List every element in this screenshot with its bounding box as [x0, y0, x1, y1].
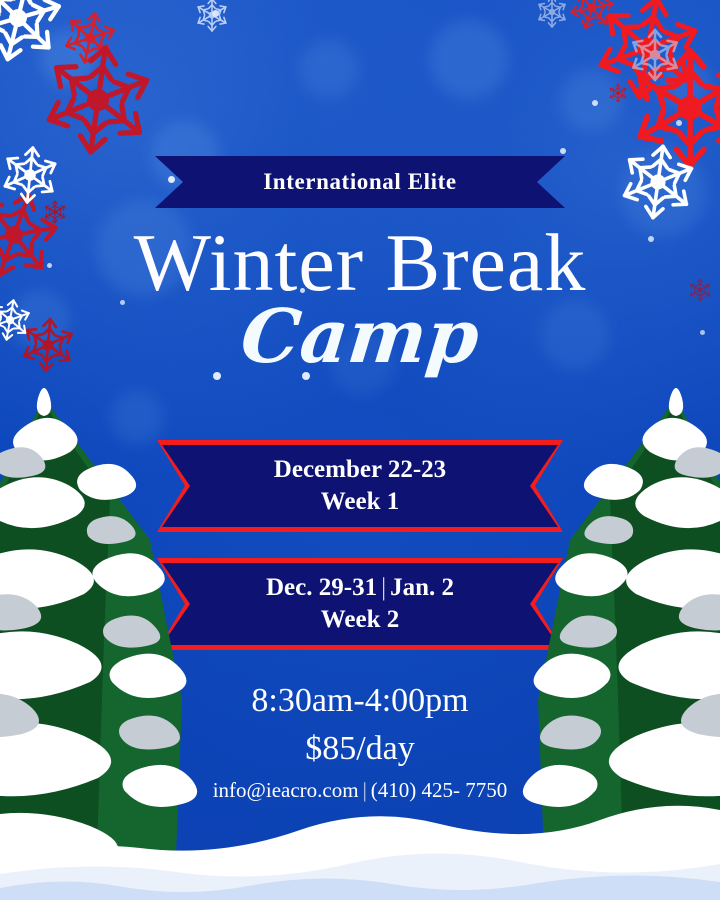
winter-break-camp-flyer: International Elite Winter Break Camp De…: [0, 0, 720, 900]
winter-scene-layer: [0, 0, 720, 900]
pine-tree-left: [0, 388, 197, 880]
